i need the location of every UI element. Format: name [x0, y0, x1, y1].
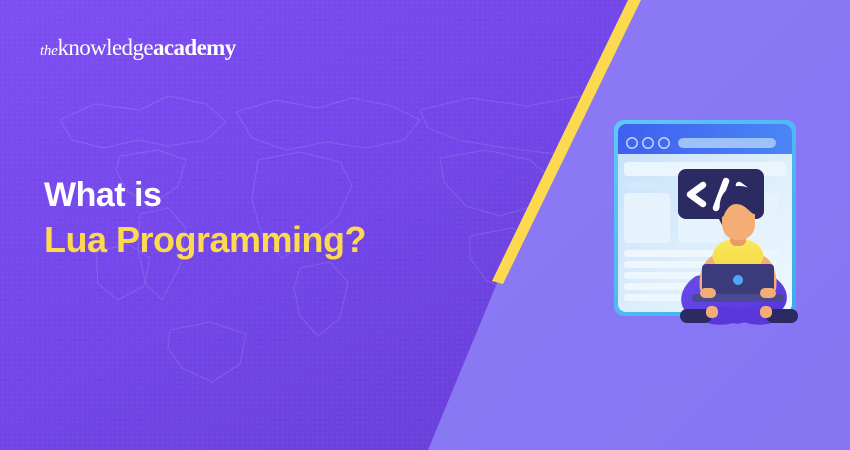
logo-the: the — [40, 43, 57, 59]
hero-illustration — [600, 100, 830, 340]
brand-logo[interactable]: theknowledgeacademy — [40, 36, 236, 59]
logo-knowledge: knowledge — [57, 35, 153, 60]
headline-line-1: What is — [44, 176, 366, 214]
logo-academy: academy — [153, 35, 236, 60]
promo-banner: theknowledgeacademy What is Lua Programm… — [0, 0, 850, 450]
page-title: What is Lua Programming? — [44, 176, 366, 260]
headline-line-2: Lua Programming? — [44, 220, 366, 260]
